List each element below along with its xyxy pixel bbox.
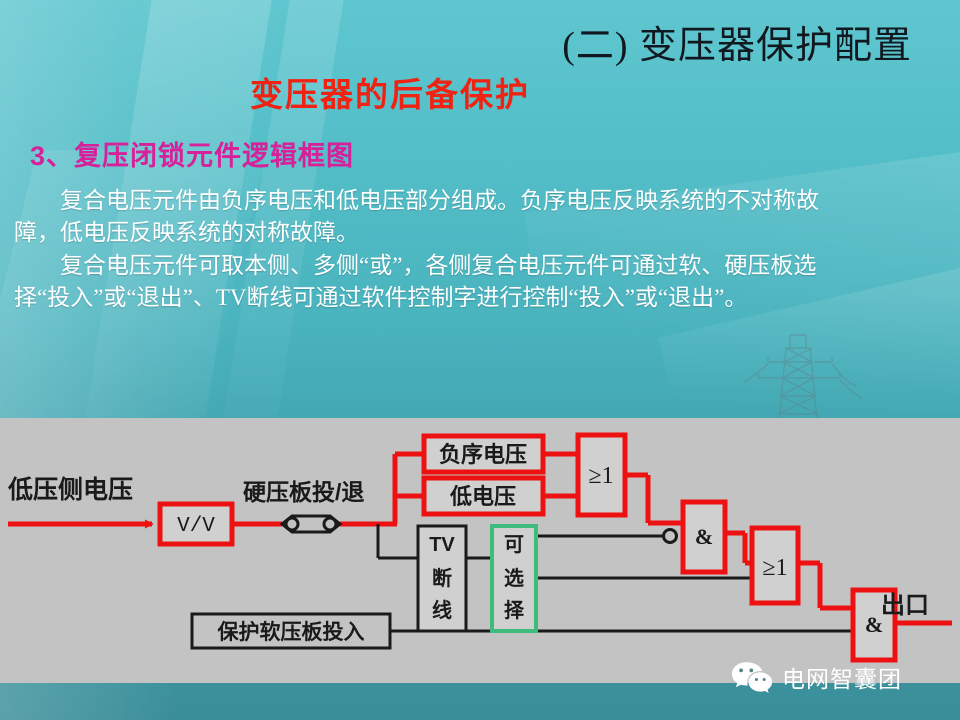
tv-break-label-line3: 线: [432, 598, 452, 622]
vv-block-label: V/V: [177, 515, 215, 538]
or-gate-1-label: ≥1: [588, 463, 613, 489]
or-gate-2-label: ≥1: [762, 555, 787, 581]
body-paragraph-1-line-1: 复合电压元件由负序电压和低电压部分组成。负序电压反映系统的不对称故: [14, 186, 952, 216]
body-paragraph-2-line-2: 择“投入”或“退出”、TV断线可通过软件控制字进行控制“投入”或“退出”。: [14, 283, 952, 313]
footer-label: 电网智囊团: [782, 660, 902, 694]
input-voltage-label: 低压侧电压: [7, 475, 133, 504]
wechat-icon: [730, 660, 774, 694]
page-title: (二) 变压器保护配置: [562, 14, 912, 69]
selectable-label-line1: 可: [504, 534, 524, 556]
output-label: 出口: [881, 592, 929, 619]
selectable-label-line3: 择: [504, 599, 525, 622]
tv-break-label-line1: TV: [429, 534, 455, 556]
body-paragraph-1-line-2: 障，低电压反映系统的对称故障。: [14, 218, 952, 248]
logic-diagram-panel: V/V 负序电压 低电压 TV 断 线 可 选 择 ≥1 &: [0, 418, 960, 683]
footer-branding: 电网智囊团: [730, 660, 902, 694]
inverter-bubble-icon: [664, 530, 677, 543]
body-text-block: 复合电压元件由负序电压和低电压部分组成。负序电压反映系统的不对称故 障，低电压反…: [14, 186, 952, 315]
low-voltage-label: 低电压: [449, 484, 516, 509]
and-gate-1-label: &: [695, 524, 713, 549]
body-paragraph-2-line-1: 复合电压元件可取本侧、多侧“或”，各侧复合电压元件可通过软、硬压板选: [14, 251, 952, 281]
slide-canvas: (二) 变压器保护配置 变压器的后备保护 3、复压闭锁元件逻辑框图 复合电压元件…: [0, 0, 960, 720]
tv-break-label-line2: 断: [432, 566, 452, 590]
selectable-label-line2: 选: [504, 567, 524, 590]
page-subtitle: 变压器的后备保护: [0, 68, 960, 116]
soft-plate-label: 保护软压板投入: [217, 620, 365, 644]
logic-diagram-svg: V/V 负序电压 低电压 TV 断 线 可 选 择 ≥1 &: [0, 418, 960, 683]
section-heading: 3、复压闭锁元件逻辑框图: [30, 134, 354, 173]
hard-plate-label: 硬压板投/退: [243, 479, 364, 505]
negative-sequence-voltage-label: 负序电压: [439, 442, 527, 467]
